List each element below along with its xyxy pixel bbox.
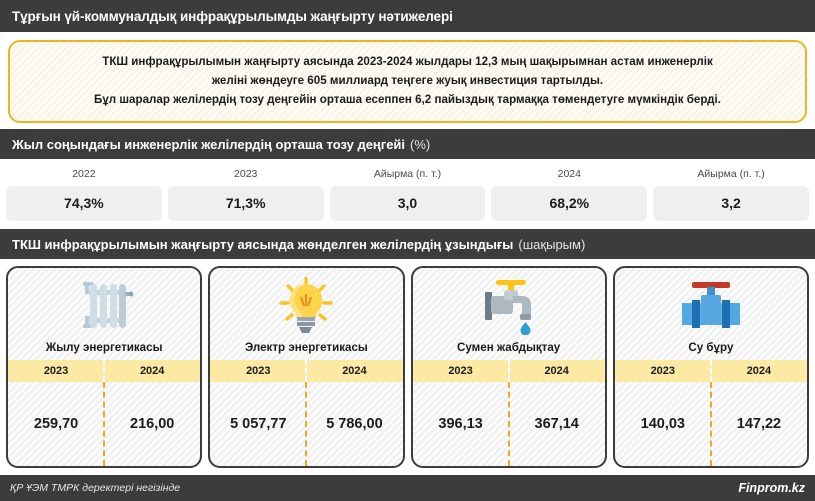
wear-table: 2022 2023 Айырма (п. т.) 2024 Айырма (п.… [0, 159, 815, 229]
footer-brand[interactable]: Finprom.kz [738, 481, 805, 495]
wear-value-2022: 74,3% [6, 186, 162, 221]
wear-table-value-row: 74,3% 71,3% 3,0 68,2% 3,2 [6, 186, 809, 221]
wear-section-header: Жыл соңындағы инженерлік желілердің орта… [0, 129, 815, 159]
card-years-heat-energy: 2023 2024 [8, 360, 200, 382]
repair-section-header: ТКШ инфрақұрылымын жаңғырту аясында жөнд… [0, 229, 815, 259]
wear-section-title: Жыл соңындағы инженерлік желілердің орта… [12, 137, 405, 152]
card-value-2024: 147,22 [711, 382, 807, 466]
faucet-icon [413, 268, 605, 340]
card-title-heat-energy: Жылу энергетикасы [8, 340, 200, 360]
footer-source-text: ҚР ҰЭМ ТМРК деректері негізінде [10, 482, 180, 494]
wear-table-header-row: 2022 2023 Айырма (п. т.) 2024 Айырма (п.… [6, 165, 809, 186]
wear-col-header-2022: 2022 [6, 165, 162, 186]
card-years-electric-energy: 2023 2024 [210, 360, 402, 382]
page-title: Тұрғын үй-коммуналдық инфрақұрылымды жаң… [12, 9, 453, 24]
wear-value-2023: 71,3% [168, 186, 324, 221]
callout-line-2: желіні жөндеуге 605 миллиард теңгеге жуы… [24, 72, 791, 91]
wear-col-header-diff-1: Айырма (п. т.) [330, 165, 486, 186]
wear-col-header-diff-2: Айырма (п. т.) [653, 165, 809, 186]
card-title-drainage: Су бұру [615, 340, 807, 360]
pipe-valve-icon [615, 268, 807, 340]
repair-cards-row: Жылу энергетикасы 2023 2024 259,70 216,0… [0, 259, 815, 475]
card-value-divider [508, 382, 510, 466]
card-value-2023: 396,13 [413, 382, 509, 466]
card-year-label-2023: 2023 [413, 360, 509, 382]
card-year-label-2023: 2023 [8, 360, 104, 382]
card-title-electric-energy: Электр энергетикасы [210, 340, 402, 360]
wear-value-diff-2: 3,2 [653, 186, 809, 221]
lightbulb-icon [210, 268, 402, 340]
card-year-divider [508, 360, 510, 382]
card-value-2023: 5 057,77 [210, 382, 306, 466]
card-year-label-2023: 2023 [210, 360, 306, 382]
card-year-divider [305, 360, 307, 382]
card-values-heat-energy: 259,70 216,00 [8, 382, 200, 466]
card-value-2023: 259,70 [8, 382, 104, 466]
repair-section-unit: (шақырым) [518, 237, 585, 252]
page-footer: ҚР ҰЭМ ТМРК деректері негізінде Finprom.… [0, 475, 815, 501]
card-year-divider [103, 360, 105, 382]
card-year-label-2023: 2023 [615, 360, 711, 382]
callout-line-1: ТКШ инфрақұрылымын жаңғырту аясында 2023… [24, 53, 791, 72]
wear-col-header-2023: 2023 [168, 165, 324, 186]
card-value-2023: 140,03 [615, 382, 711, 466]
wear-value-diff-1: 3,0 [330, 186, 486, 221]
card-water-supply: Сумен жабдықтау 2023 2024 396,13 367,14 [411, 266, 607, 468]
card-value-2024: 5 786,00 [306, 382, 402, 466]
callout-wrapper: ТКШ инфрақұрылымын жаңғырту аясында 2023… [0, 32, 815, 129]
card-year-label-2024: 2024 [711, 360, 807, 382]
card-year-label-2024: 2024 [104, 360, 200, 382]
card-value-divider [710, 382, 712, 466]
card-year-label-2024: 2024 [306, 360, 402, 382]
card-electric-energy: Электр энергетикасы 2023 2024 5 057,77 5… [208, 266, 404, 468]
card-years-drainage: 2023 2024 [615, 360, 807, 382]
summary-callout: ТКШ инфрақұрылымын жаңғырту аясында 2023… [8, 40, 807, 123]
card-values-electric-energy: 5 057,77 5 786,00 [210, 382, 402, 466]
callout-line-3: Бұл шаралар желілердің тозу деңгейін орт… [24, 91, 791, 110]
card-values-drainage: 140,03 147,22 [615, 382, 807, 466]
radiator-icon [8, 268, 200, 340]
repair-section-title: ТКШ инфрақұрылымын жаңғырту аясында жөнд… [12, 237, 513, 252]
card-year-divider [710, 360, 712, 382]
wear-col-header-2024: 2024 [491, 165, 647, 186]
card-value-2024: 367,14 [509, 382, 605, 466]
wear-value-2024: 68,2% [491, 186, 647, 221]
card-value-divider [305, 382, 307, 466]
card-values-water-supply: 396,13 367,14 [413, 382, 605, 466]
card-value-divider [103, 382, 105, 466]
infographic-page: Тұрғын үй-коммуналдық инфрақұрылымды жаң… [0, 0, 815, 501]
card-heat-energy: Жылу энергетикасы 2023 2024 259,70 216,0… [6, 266, 202, 468]
wear-section-unit: (%) [410, 137, 430, 152]
card-years-water-supply: 2023 2024 [413, 360, 605, 382]
card-value-2024: 216,00 [104, 382, 200, 466]
card-title-water-supply: Сумен жабдықтау [413, 340, 605, 360]
page-title-bar: Тұрғын үй-коммуналдық инфрақұрылымды жаң… [0, 0, 815, 32]
card-drainage: Су бұру 2023 2024 140,03 147,22 [613, 266, 809, 468]
card-year-label-2024: 2024 [509, 360, 605, 382]
